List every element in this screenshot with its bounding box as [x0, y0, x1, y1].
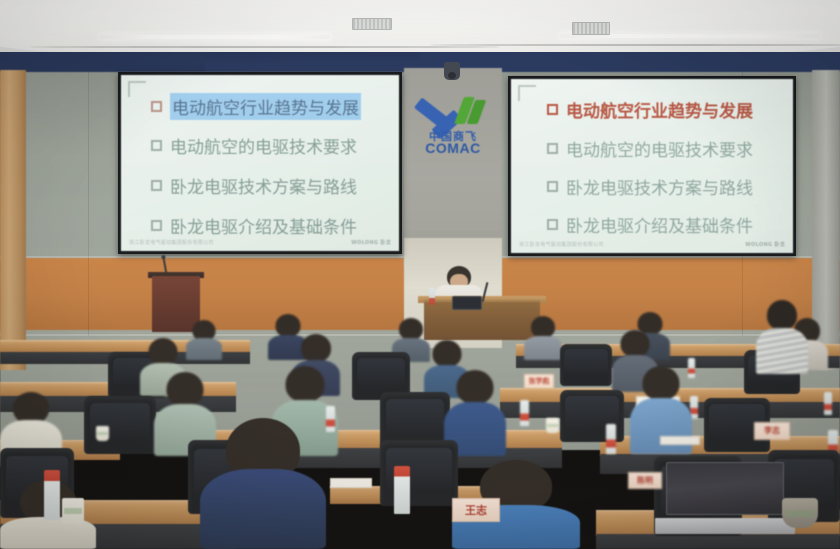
attendee-head [767, 300, 797, 330]
attendee-head [286, 366, 325, 402]
slide-footer-right-text: 浙江卧龙电气驱动集团股份有限公司 [519, 241, 604, 248]
attendee-head [433, 340, 462, 367]
slide-bullet-right-4: 卧龙电驱介绍及基础条件 [547, 212, 753, 237]
presenter-desk [424, 300, 540, 340]
checkbox-icon [547, 143, 558, 154]
slide-bullet-right-2: 电动航空的电驱技术要求 [547, 136, 753, 161]
attendee-body [756, 328, 808, 374]
paper-cup [96, 426, 109, 441]
water-bottle [824, 392, 832, 415]
water-bottle [429, 288, 435, 305]
presenter-laptop [452, 296, 482, 310]
projection-screen-right: 电动航空行业趋势与发展 电动航空的电驱技术要求 卧龙电驱技术方案与路线 卧龙电驱… [508, 76, 796, 256]
water-bottle [394, 466, 410, 514]
slide-bullet-left-3: 卧龙电驱技术方案与路线 [151, 173, 357, 198]
slide-bullet-left-4: 卧龙电驱介绍及基础条件 [151, 213, 357, 238]
slide-bullet-left-2: 电动航空的电驱技术要求 [151, 133, 357, 158]
checkbox-icon [547, 181, 558, 192]
chair-row1-3 [380, 440, 458, 506]
attendee-head [399, 318, 423, 340]
name-placard: 李志 [754, 422, 790, 440]
laptop-screen [666, 462, 784, 515]
paper-sheet [330, 478, 372, 488]
attendee-front-1 [200, 418, 326, 549]
camera-icon [444, 62, 460, 80]
water-bottle [326, 406, 335, 432]
attendee-r4-1 [186, 320, 222, 360]
attendee-r3-5 [756, 300, 808, 374]
paper-cup [546, 418, 559, 433]
ceiling-arc-right [430, 44, 840, 46]
ceiling-light-strip-left [100, 35, 330, 39]
ceiling-arc-left [30, 46, 500, 48]
wall-joint-1 [88, 72, 89, 336]
chair-row2-1 [84, 396, 156, 454]
checkbox-icon [151, 101, 162, 112]
conference-room-photo: 中国商飞 COMAC 电动航空行业趋势与发展 电动航空的电驱技术要求 卧龙电驱技… [0, 0, 840, 549]
attendee-head [621, 330, 650, 357]
water-bottle [520, 400, 529, 426]
name-placard: 陈明 [628, 472, 662, 489]
slide-bullet-right-1: 电动航空行业趋势与发展 [547, 97, 753, 122]
paper-sheet [660, 436, 700, 445]
attendee-head [149, 338, 178, 365]
attendee-body [186, 338, 222, 360]
logo-text-english: COMAC [414, 140, 492, 156]
attendee-head [457, 370, 494, 404]
checkbox-icon [151, 180, 162, 191]
slide-footer-right-brand: WOLONG 卧龙 [745, 241, 785, 248]
laptop [666, 462, 784, 534]
slide-footer-left-brand: WOLONG 卧龙 [351, 239, 391, 246]
slide-footer-left-text: 浙江卧龙电气驱动集团股份有限公司 [129, 239, 214, 246]
attendee-head [301, 334, 331, 362]
checkbox-icon [151, 220, 162, 231]
attendee-body [200, 469, 326, 549]
attendee-head [531, 316, 555, 338]
name-placard: 张学彪 [524, 374, 554, 389]
slide-bullet-left-1: 电动航空行业趋势与发展 [151, 93, 361, 120]
ceiling-vent-right [572, 22, 610, 35]
checkbox-icon [547, 219, 558, 230]
desk-row1-right-front [596, 534, 840, 549]
name-placard-front: 王志 [452, 498, 500, 522]
projection-screen-left: 电动航空行业趋势与发展 电动航空的电驱技术要求 卧龙电驱技术方案与路线 卧龙电驱… [118, 72, 402, 254]
ceiling-vent-center [352, 18, 392, 30]
slide-bullet-list-left: 电动航空行业趋势与发展 电动航空的电驱技术要求 卧龙电驱技术方案与路线 卧龙电驱… [121, 75, 399, 251]
chair-row3-3 [560, 344, 612, 386]
ceramic-cup [782, 498, 818, 528]
laptop-keyboard [655, 518, 794, 534]
water-bottle [44, 470, 60, 520]
attendee-head [643, 366, 680, 400]
checkbox-icon [151, 140, 162, 151]
checkbox-icon [547, 104, 558, 115]
water-bottle [606, 424, 616, 454]
slide-bullet-list-right: 电动航空行业趋势与发展 电动航空的电驱技术要求 卧龙电驱技术方案与路线 卧龙电驱… [511, 79, 793, 253]
slide-bullet-right-3: 卧龙电驱技术方案与路线 [547, 174, 753, 199]
attendee-head [167, 372, 204, 406]
paper-cup [62, 498, 84, 524]
comac-logo: 中国商飞 COMAC [414, 86, 492, 162]
attendee-body [630, 398, 692, 454]
attendee-body [524, 336, 562, 360]
wall-column-left [0, 70, 26, 370]
attendee-r4-4 [524, 316, 562, 360]
